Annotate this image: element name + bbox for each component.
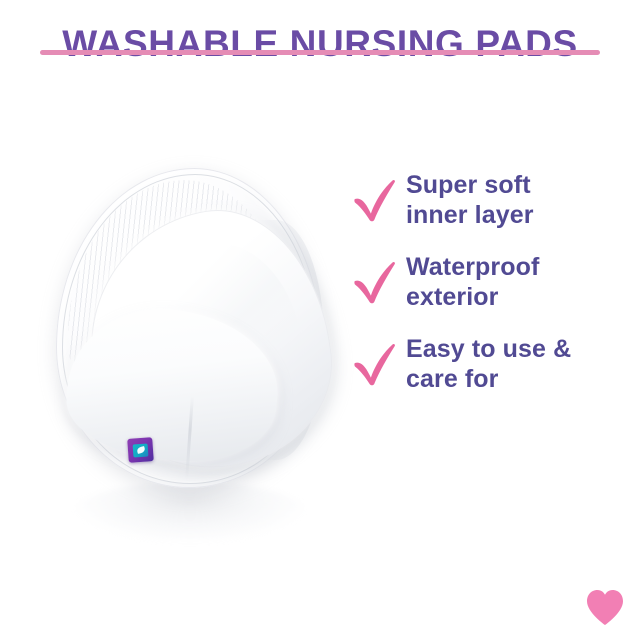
- check-icon: [352, 172, 398, 224]
- feature-item: Easy to use & care for: [352, 332, 620, 394]
- header: WASHABLE NURSING PADS: [0, 22, 640, 66]
- feature-item: Waterproof exterior: [352, 250, 620, 312]
- heart-icon: [585, 589, 625, 626]
- product-feature-card: WASHABLE NURSING PADS Su: [0, 0, 640, 640]
- page-title: WASHABLE NURSING PADS: [0, 22, 640, 66]
- feature-item: Super soft inner layer: [352, 168, 620, 230]
- product-reflection: [74, 482, 306, 542]
- feature-line: exterior: [406, 283, 499, 311]
- brand-tag: [127, 437, 154, 463]
- feature-label: Easy to use & care for: [406, 332, 571, 394]
- feature-list: Super soft inner layer Waterproof exteri…: [352, 168, 620, 394]
- brand-tag-leaf-icon: [136, 446, 145, 454]
- product-image: [38, 160, 338, 550]
- feature-label: Waterproof exterior: [406, 250, 539, 312]
- feature-line: Easy to use &: [406, 335, 571, 363]
- feature-line: Super soft: [406, 171, 531, 199]
- check-icon: [352, 254, 398, 306]
- feature-line: inner layer: [406, 201, 534, 229]
- feature-line: care for: [406, 365, 499, 393]
- feature-line: Waterproof: [406, 253, 539, 281]
- brand-tag-inner: [133, 443, 149, 457]
- check-icon: [352, 336, 398, 388]
- title-underline-rule: [40, 50, 600, 55]
- feature-label: Super soft inner layer: [406, 168, 534, 230]
